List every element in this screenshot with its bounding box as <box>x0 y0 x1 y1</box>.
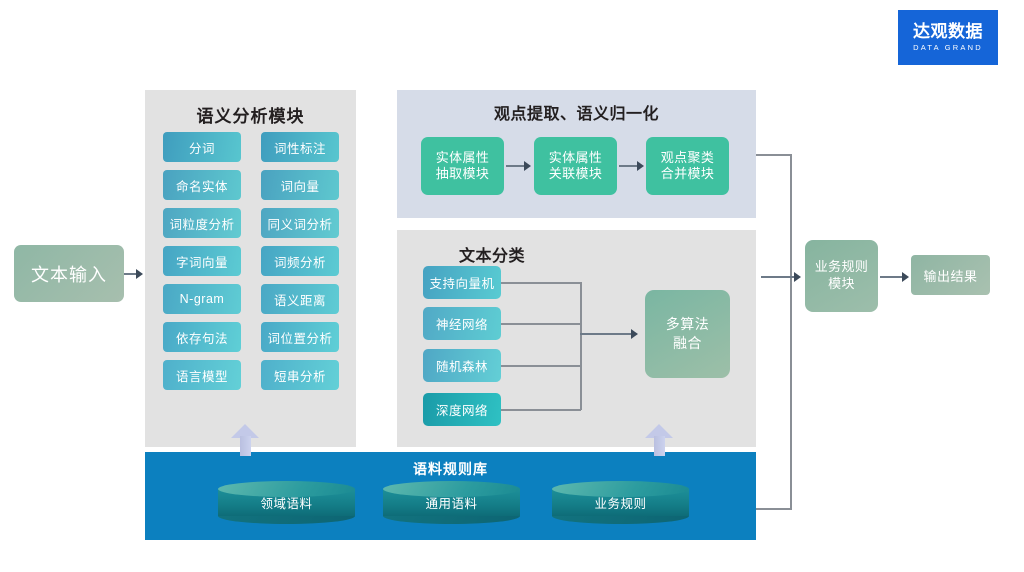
arrow-to-rule-module-line <box>761 276 796 278</box>
arrow-rule-to-output-head <box>902 272 909 282</box>
connector-opinion-to-rule-top <box>756 154 792 156</box>
output-result-label: 输出结果 <box>923 266 977 285</box>
algo-connector-bus <box>580 282 582 410</box>
semantic-chip[interactable]: 同义词分析 <box>261 208 339 238</box>
corpus-feed-arrow-textclass-icon <box>645 424 673 456</box>
algo-connector-nn <box>501 323 581 325</box>
fusion-line2: 融合 <box>666 334 710 353</box>
opinion-extraction-title: 观点提取、语义归一化 <box>397 100 756 124</box>
arrow-input-to-semantic-head <box>136 269 143 279</box>
diagram-canvas: 达观数据 DATA GRAND 文本输入 语义分析模块 分词 词性标注 命名实体… <box>0 0 1024 572</box>
opinion-clustering-merge-node[interactable]: 观点聚类 合并模块 <box>646 137 729 195</box>
algorithm-random-forest-node[interactable]: 随机森林 <box>423 349 501 382</box>
arrow-op1-op2-head <box>524 161 531 171</box>
business-rule-module-node[interactable]: 业务规则 模块 <box>805 240 878 312</box>
semantic-chip[interactable]: 词频分析 <box>261 246 339 276</box>
connector-corpus-to-rule-bottom <box>756 508 792 510</box>
arrow-op2-op3-line <box>619 165 639 167</box>
business-rules-cylinder[interactable]: 业务规则 <box>552 481 689 523</box>
entity-attribute-association-node[interactable]: 实体属性 关联模块 <box>534 137 617 195</box>
fusion-line1: 多算法 <box>666 315 710 334</box>
semantic-chip[interactable]: 词粒度分析 <box>163 208 241 238</box>
algorithm-neural-network-node[interactable]: 神经网络 <box>423 307 501 340</box>
corpus-rule-base-title: 语料规则库 <box>145 459 756 479</box>
semantic-analysis-panel: 语义分析模块 分词 词性标注 命名实体 词向量 词粒度分析 同义词分析 字词向量… <box>145 90 356 447</box>
arrow-op1-op2-line <box>506 165 526 167</box>
rule-module-line1: 业务规则 <box>815 259 869 276</box>
semantic-chip-grid: 分词 词性标注 命名实体 词向量 词粒度分析 同义词分析 字词向量 词频分析 N… <box>163 132 339 390</box>
algo-connector-rf <box>501 365 581 367</box>
algorithm-svm-node[interactable]: 支持向量机 <box>423 266 501 299</box>
company-logo: 达观数据 DATA GRAND <box>898 10 998 65</box>
semantic-chip[interactable]: 词性标注 <box>261 132 339 162</box>
opinion-box-line1: 实体属性 <box>549 150 603 166</box>
logo-english-text: DATA GRAND <box>913 44 983 52</box>
entity-attribute-extraction-node[interactable]: 实体属性 抽取模块 <box>421 137 504 195</box>
cylinder-label: 业务规则 <box>552 493 689 512</box>
semantic-chip[interactable]: 词向量 <box>261 170 339 200</box>
opinion-box-line1: 实体属性 <box>436 150 490 166</box>
domain-corpus-cylinder[interactable]: 领域语料 <box>218 481 355 523</box>
arrow-algos-to-fusion-line <box>580 333 632 335</box>
text-input-label: 文本输入 <box>31 261 107 287</box>
semantic-chip[interactable]: 依存句法 <box>163 322 241 352</box>
cylinder-label: 领域语料 <box>218 493 355 512</box>
opinion-box-line2: 关联模块 <box>549 166 603 182</box>
arrow-rule-to-output-line <box>880 276 904 278</box>
output-result-node[interactable]: 输出结果 <box>911 255 990 295</box>
semantic-chip[interactable]: 字词向量 <box>163 246 241 276</box>
connector-right-bus <box>790 154 792 509</box>
semantic-chip[interactable]: 语义距离 <box>261 284 339 314</box>
opinion-box-line2: 合并模块 <box>661 166 715 182</box>
general-corpus-cylinder[interactable]: 通用语料 <box>383 481 520 523</box>
corpus-feed-arrow-semantic-icon <box>231 424 259 456</box>
algo-connector-svm <box>501 282 581 284</box>
semantic-chip[interactable]: 短串分析 <box>261 360 339 390</box>
semantic-chip[interactable]: 命名实体 <box>163 170 241 200</box>
multi-algorithm-fusion-node[interactable]: 多算法 融合 <box>645 290 730 378</box>
text-input-node[interactable]: 文本输入 <box>14 245 124 302</box>
semantic-chip[interactable]: N-gram <box>163 284 241 314</box>
arrow-op2-op3-head <box>637 161 644 171</box>
rule-module-line2: 模块 <box>815 276 869 293</box>
logo-chinese-text: 达观数据 <box>913 23 983 40</box>
semantic-chip[interactable]: 语言模型 <box>163 360 241 390</box>
opinion-box-line1: 观点聚类 <box>661 150 715 166</box>
arrow-to-rule-module-head <box>794 272 801 282</box>
semantic-analysis-title: 语义分析模块 <box>145 102 356 127</box>
semantic-chip[interactable]: 词位置分析 <box>261 322 339 352</box>
semantic-chip[interactable]: 分词 <box>163 132 241 162</box>
text-classification-title: 文本分类 <box>459 242 525 266</box>
cylinder-label: 通用语料 <box>383 493 520 512</box>
algorithm-deep-network-node[interactable]: 深度网络 <box>423 393 501 426</box>
arrow-algos-to-fusion-head <box>631 329 638 339</box>
opinion-box-line2: 抽取模块 <box>436 166 490 182</box>
algo-connector-dn <box>501 409 581 411</box>
